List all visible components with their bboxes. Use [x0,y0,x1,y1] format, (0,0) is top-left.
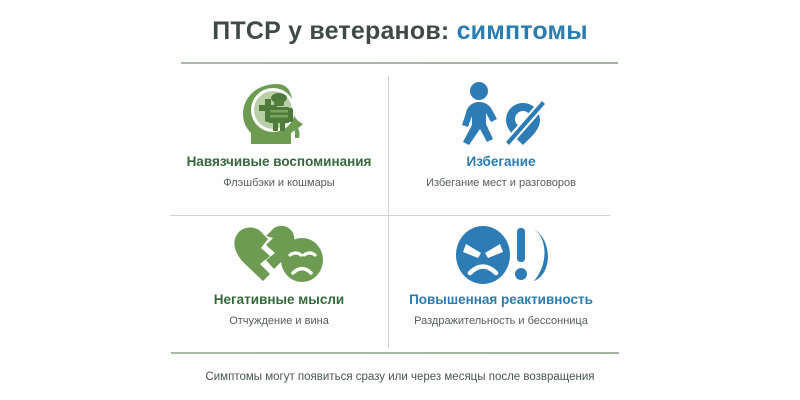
title-blue-part: симптомы [457,17,588,45]
title-divider-rule [181,62,618,64]
quadrant-title: Избегание [392,154,610,170]
footer-note: Симптомы могут появиться сразу или через… [0,371,800,383]
quadrant-negative-thoughts: Негативные мысли Отчуждение и вина [170,222,388,327]
broken-heart-sad-face-icon [170,222,388,288]
infographic-poster: ПТСР у ветеранов: симптомы [0,0,800,400]
quadrant-hyperarousal: Повышенная реактивность Раздражительност… [392,222,610,327]
walking-person-no-location-icon [392,78,610,150]
quadrant-subtitle: Раздражительность и бессонница [392,315,610,328]
quadrant-subtitle: Флэшбэки и кошмары [170,177,388,190]
angry-face-exclamation-moon-icon [392,222,610,288]
head-with-soldier-icon [170,78,388,150]
footer-divider-rule [171,352,619,354]
quadrant-intrusive-memories: Навязчивые воспоминания Флэшбэки и кошма… [170,78,388,189]
quadrant-title: Повышенная реактивность [392,292,610,308]
quadrant-title: Негативные мысли [170,292,388,308]
quadrant-subtitle: Отчуждение и вина [170,315,388,328]
grid-vertical-divider [388,76,389,348]
title-text: ПТСР у ветеранов: симптомы [0,18,800,46]
symptom-grid: Навязчивые воспоминания Флэшбэки и кошма… [170,72,630,350]
title-dark-part: ПТСР у ветеранов: [212,17,449,45]
quadrant-title: Навязчивые воспоминания [170,154,388,170]
quadrant-avoidance: Избегание Избегание мест и разговоров [392,78,610,189]
page-title: ПТСР у ветеранов: симптомы [0,18,800,46]
grid-horizontal-divider [170,215,610,216]
quadrant-subtitle: Избегание мест и разговоров [392,177,610,190]
